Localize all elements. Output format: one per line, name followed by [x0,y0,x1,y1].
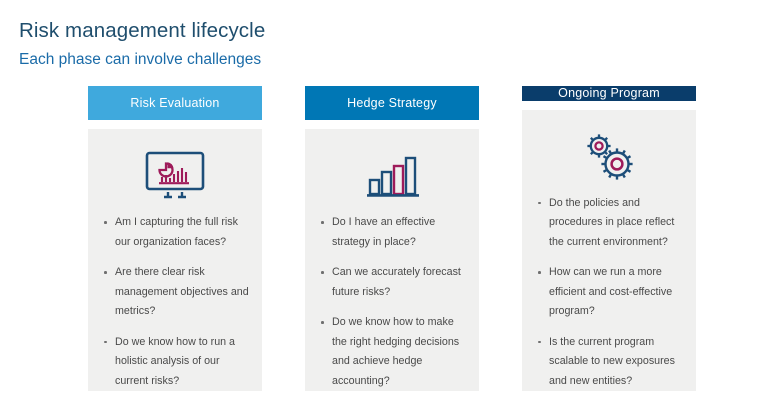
list-item: Do we know how to make the right hedging… [319,313,467,391]
list-item: Am I capturing the full risk our organiz… [102,213,250,252]
phase-column-hedge-strategy: Hedge Strategy Do I have an effective st… [305,86,479,391]
phase-column-risk-evaluation: Risk Evaluation [88,86,262,391]
page-subtitle: Each phase can involve challenges [19,49,519,70]
phase-header-risk-evaluation[interactable]: Risk Evaluation [88,86,262,120]
challenge-list: Do the policies and procedures in place … [522,194,696,392]
list-item: Can we accurately forecast future risks? [319,263,467,302]
phase-header-hedge-strategy[interactable]: Hedge Strategy [305,86,479,120]
bar-chart-icon [362,147,422,203]
list-item: Is the current program scalable to new e… [536,333,684,392]
lifecycle-columns: Risk Evaluation [88,86,696,391]
monitor-analytics-icon [144,147,206,203]
list-item: Are there clear risk management objectiv… [102,263,250,322]
phase-header-ongoing-program[interactable]: Ongoing Program [522,86,696,101]
list-item: Do I have an effective strategy in place… [319,213,467,252]
heading-block: Risk management lifecycle Each phase can… [19,18,519,70]
list-item: Do the policies and procedures in place … [536,194,684,253]
gears-icon [578,128,640,184]
phase-body-ongoing-program: Do the policies and procedures in place … [522,110,696,392]
phase-column-ongoing-program: Ongoing Program [522,86,696,391]
challenge-list: Am I capturing the full risk our organiz… [88,213,262,391]
challenge-list: Do I have an effective strategy in place… [305,213,479,391]
list-item: Do we know how to run a holistic analysi… [102,333,250,392]
phase-body-risk-evaluation: Am I capturing the full risk our organiz… [88,129,262,391]
phase-body-hedge-strategy: Do I have an effective strategy in place… [305,129,479,391]
page-title: Risk management lifecycle [19,18,519,44]
list-item: How can we run a more efficient and cost… [536,263,684,322]
